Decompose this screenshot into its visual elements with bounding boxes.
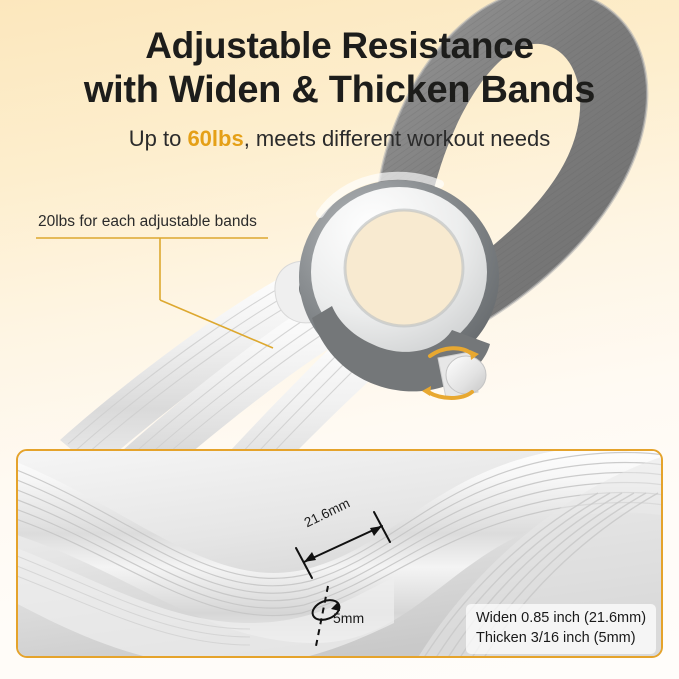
spec-caption-box: Widen 0.85 inch (21.6mm) Thicken 3/16 in…	[466, 604, 656, 654]
adjustment-knob	[422, 348, 486, 398]
spec-line-thicken: Thicken 3/16 inch (5mm)	[476, 628, 646, 648]
product-infographic: Adjustable Resistance with Widen & Thick…	[0, 0, 679, 679]
rotation-arrow-icon	[428, 348, 472, 398]
subtitle-prefix: Up to	[129, 126, 188, 151]
spec-line-widen: Widen 0.85 inch (21.6mm)	[476, 608, 646, 628]
clamp-ring	[299, 176, 499, 392]
thickness-measurement-label: 5mm	[333, 610, 364, 626]
subtitle-accent-weight: 60lbs	[187, 126, 243, 151]
callout-leader-line	[30, 230, 290, 360]
callout-20lbs: 20lbs for each adjustable bands	[36, 212, 257, 232]
heading-block: Adjustable Resistance with Widen & Thick…	[0, 24, 679, 112]
subtitle-suffix: , meets different workout needs	[244, 126, 551, 151]
callout-label: 20lbs for each adjustable bands	[36, 212, 257, 232]
heading-line-2: with Widen & Thicken Bands	[0, 68, 679, 112]
heading-line-1: Adjustable Resistance	[0, 24, 679, 68]
subtitle: Up to 60lbs, meets different workout nee…	[0, 124, 679, 154]
